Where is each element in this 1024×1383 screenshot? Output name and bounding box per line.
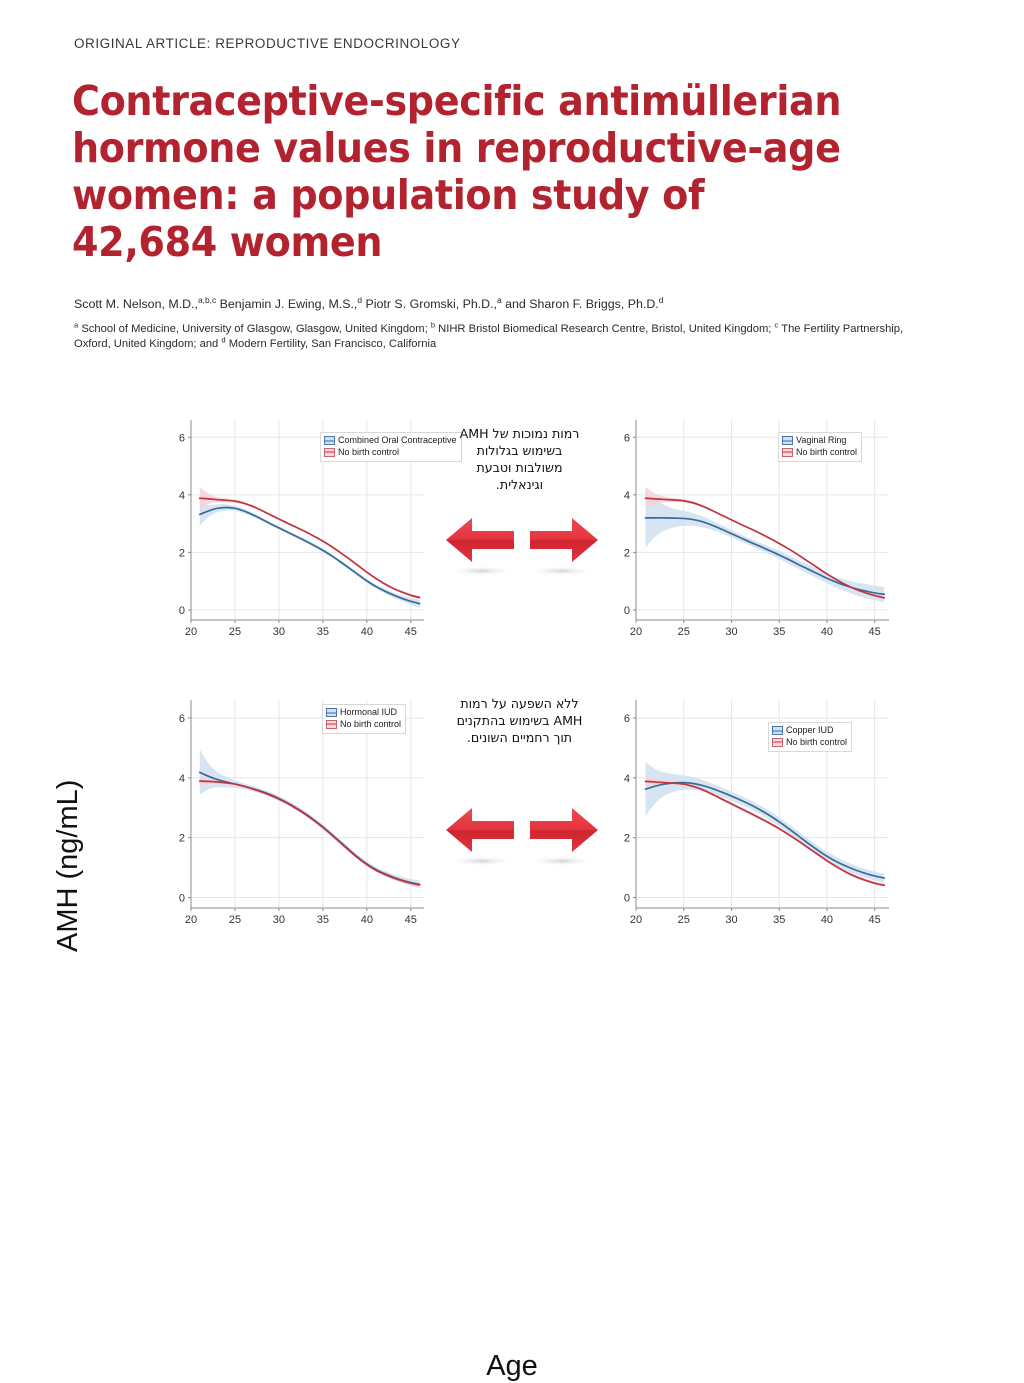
y-tick-label: 2 (624, 547, 630, 559)
legend-label-red: No birth control (796, 447, 857, 459)
y-tick-label: 4 (179, 773, 185, 785)
title-line-2: hormone values in reproductive-age (72, 125, 890, 172)
legend-label-red: No birth control (338, 447, 399, 459)
legend-label-blue: Hormonal IUD (340, 707, 397, 719)
legend-swatch-blue-icon (782, 436, 793, 445)
arrow-pair-top (442, 514, 602, 576)
figure-y-axis-label: AMH (ng/mL) (52, 780, 85, 952)
y-tick-label: 0 (179, 893, 185, 905)
x-tick-label: 40 (361, 626, 373, 638)
x-tick-label: 25 (678, 626, 690, 638)
x-tick-label: 20 (185, 914, 197, 926)
x-tick-label: 45 (405, 914, 417, 926)
y-tick-label: 0 (179, 605, 185, 617)
legend-item-blue: Vaginal Ring (782, 435, 857, 447)
y-tick-label: 4 (624, 490, 630, 502)
arrow-pair-top-icon (442, 514, 602, 576)
x-tick-label: 35 (317, 626, 329, 638)
legend-item-red: No birth control (324, 447, 457, 459)
legend-label-red: No birth control (340, 719, 401, 731)
title-line-3: women: a population study of (72, 172, 890, 219)
author-list: Scott M. Nelson, M.D.,a,b,c Benjamin J. … (74, 296, 954, 312)
legend-swatch-blue-icon (326, 708, 337, 717)
y-tick-label: 2 (624, 833, 630, 845)
legend-swatch-red-icon (772, 738, 783, 747)
x-tick-label: 40 (821, 914, 833, 926)
legend-label-red: No birth control (786, 737, 847, 749)
x-tick-label: 45 (405, 626, 417, 638)
chart-svg: 0246202530354045 (610, 692, 895, 930)
x-tick-label: 25 (229, 626, 241, 638)
legend-hormonal-iud[interactable]: Hormonal IUD No birth control (322, 704, 406, 734)
x-tick-label: 30 (725, 626, 737, 638)
legend-swatch-red-icon (326, 720, 337, 729)
legend-item-blue: Combined Oral Contraceptive (324, 435, 457, 447)
legend-swatch-red-icon (324, 448, 335, 457)
title-line-1: Contraceptive-specific antimüllerian (72, 78, 890, 125)
y-tick-label: 6 (179, 713, 185, 725)
legend-swatch-red-icon (782, 448, 793, 457)
legend-item-blue: Copper IUD (772, 725, 847, 737)
y-tick-label: 6 (624, 713, 630, 725)
legend-item-red: No birth control (326, 719, 401, 731)
arrow-pair-bottom (442, 804, 602, 866)
x-tick-label: 20 (630, 914, 642, 926)
x-tick-label: 30 (725, 914, 737, 926)
legend-swatch-blue-icon (324, 436, 335, 445)
figure-x-axis-label: Age (0, 1350, 1024, 1383)
x-tick-label: 40 (361, 914, 373, 926)
legend-copper-iud[interactable]: Copper IUD No birth control (768, 722, 852, 752)
x-tick-label: 35 (317, 914, 329, 926)
legend-swatch-blue-icon (772, 726, 783, 735)
legend-label-blue: Vaginal Ring (796, 435, 846, 447)
chart-panel-copper-iud: 0246202530354045 (610, 692, 895, 930)
y-tick-label: 6 (179, 432, 185, 444)
legend-item-red: No birth control (772, 737, 847, 749)
x-tick-label: 35 (773, 626, 785, 638)
y-tick-label: 2 (179, 547, 185, 559)
legend-label-blue: Copper IUD (786, 725, 834, 737)
callout-bottom: ללא השפעה על רמות AMH בשימוש בהתקנים תוך… (452, 695, 587, 746)
affiliations: a School of Medicine, University of Glas… (74, 322, 924, 351)
article-figure-page: ORIGINAL ARTICLE: REPRODUCTIVE ENDOCRINO… (0, 0, 1024, 1024)
arrow-pair-bottom-icon (442, 804, 602, 866)
x-tick-label: 45 (869, 626, 881, 638)
legend-item-red: No birth control (782, 447, 857, 459)
x-tick-label: 30 (273, 626, 285, 638)
y-tick-label: 6 (624, 432, 630, 444)
legend-ring[interactable]: Vaginal Ring No birth control (778, 432, 862, 462)
article-kicker: ORIGINAL ARTICLE: REPRODUCTIVE ENDOCRINO… (74, 36, 461, 51)
page-title: Contraceptive-specific antimüllerian hor… (72, 78, 890, 266)
x-tick-label: 25 (229, 914, 241, 926)
x-tick-label: 30 (273, 914, 285, 926)
y-tick-label: 4 (179, 490, 185, 502)
x-tick-label: 45 (869, 914, 881, 926)
x-tick-label: 40 (821, 626, 833, 638)
x-tick-label: 20 (630, 626, 642, 638)
y-tick-label: 4 (624, 773, 630, 785)
x-tick-label: 20 (185, 626, 197, 638)
legend-label-blue: Combined Oral Contraceptive (338, 435, 457, 447)
title-line-4: 42,684 women (72, 219, 890, 266)
callout-top: רמות נמוכות של AMH בשימוש בגלולות משולבו… (452, 425, 587, 493)
y-tick-label: 0 (624, 605, 630, 617)
legend-coc[interactable]: Combined Oral Contraceptive No birth con… (320, 432, 462, 462)
legend-item-blue: Hormonal IUD (326, 707, 401, 719)
figure-panel-grid: AMH (ng/mL) Age 0246202530354045 Combine… (0, 392, 1024, 1024)
y-tick-label: 0 (624, 893, 630, 905)
x-tick-label: 35 (773, 914, 785, 926)
x-tick-label: 25 (678, 914, 690, 926)
y-tick-label: 2 (179, 833, 185, 845)
